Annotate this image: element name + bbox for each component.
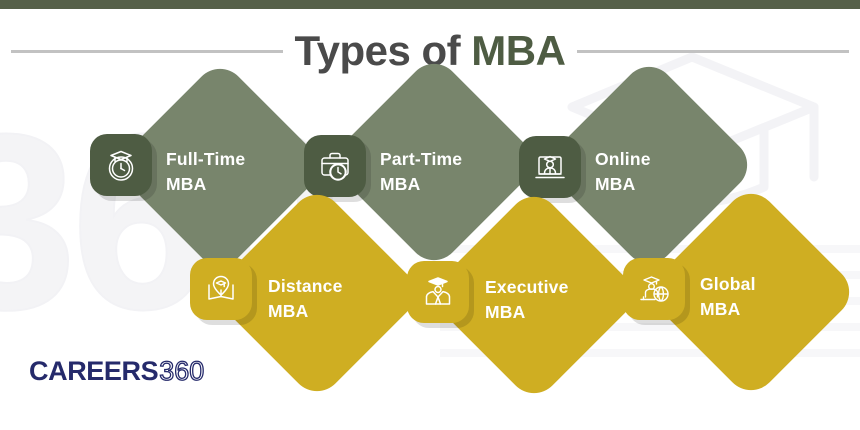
title-text-highlight: MBA <box>471 27 565 74</box>
badge-online-mba[interactable] <box>519 136 581 198</box>
logo-careers-text: CAREERS <box>29 358 158 385</box>
card-label-global-mba: Global MBA <box>700 272 830 323</box>
logo-360-text: 360 <box>159 358 204 385</box>
title-rule-left <box>11 50 283 53</box>
badge-full-time-mba[interactable] <box>90 134 152 196</box>
card-label-executive-mba: Executive MBA <box>485 275 615 326</box>
badge-distance-mba[interactable] <box>190 258 252 320</box>
clock-graduation-cap-icon <box>101 145 141 185</box>
title-rule-right <box>577 50 849 53</box>
card-label-distance-mba: Distance MBA <box>268 274 398 325</box>
card-label-full-time-mba: Full-Time MBA <box>166 147 296 198</box>
careers360-logo: CAREERS 360 <box>29 358 204 385</box>
top-accent-bar <box>0 0 860 9</box>
infographic-canvas: 360 Types of MBA <box>0 0 860 430</box>
book-location-pin-graduation-cap-icon <box>201 269 241 309</box>
card-label-online-mba: Online MBA <box>595 147 725 198</box>
briefcase-clock-icon <box>315 146 355 186</box>
graduate-globe-icon <box>634 269 674 309</box>
badge-executive-mba[interactable] <box>407 261 469 323</box>
card-label-part-time-mba: Part-Time MBA <box>380 147 510 198</box>
badge-part-time-mba[interactable] <box>304 135 366 197</box>
badge-global-mba[interactable] <box>623 258 685 320</box>
laptop-graduate-icon <box>530 147 570 187</box>
graduate-suit-icon <box>418 272 458 312</box>
